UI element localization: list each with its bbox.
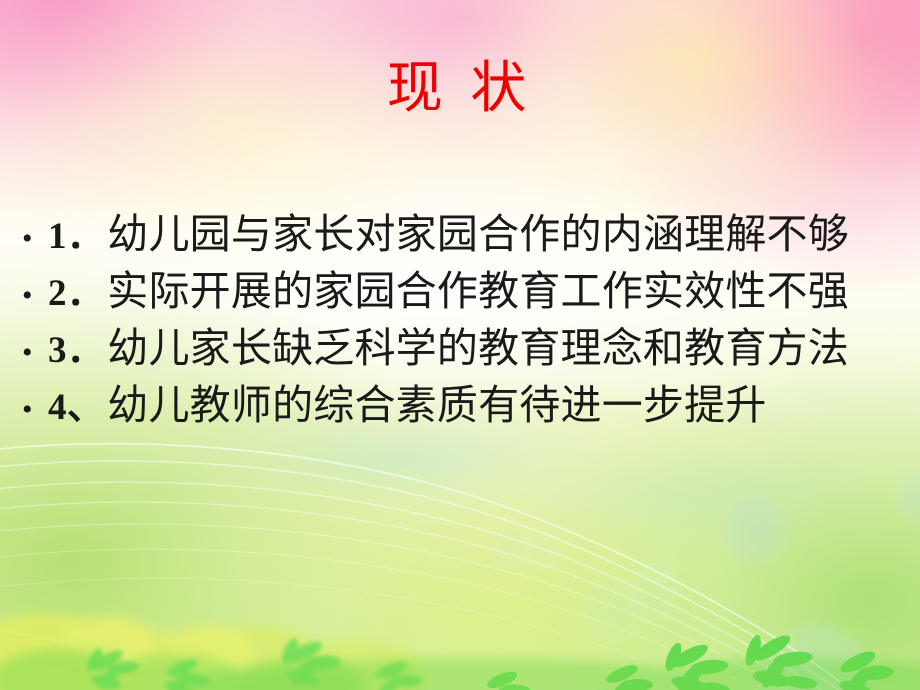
bullet-text: 幼儿家长缺乏科学的教育理念和教育方法	[107, 326, 849, 370]
bullet-marker-icon: •	[22, 388, 48, 432]
slide-title: 现 状	[0, 58, 920, 120]
list-item: • 2． 实际开展的家园合作教育工作实效性不强	[22, 269, 902, 326]
bullet-text: 幼儿教师的综合素质有待进一步提升	[107, 383, 766, 427]
list-item: • 1． 幼儿园与家长对家园合作的内涵理解不够	[22, 212, 902, 269]
bullet-text: 实际开展的家园合作教育工作实效性不强	[107, 269, 849, 313]
presentation-slide: 现 状 • 1． 幼儿园与家长对家园合作的内涵理解不够 • 2． 实际开展的家园…	[0, 0, 920, 690]
list-item: • 4、 幼儿教师的综合素质有待进一步提升	[22, 383, 902, 440]
slide-content: 现 状 • 1． 幼儿园与家长对家园合作的内涵理解不够 • 2． 实际开展的家园…	[0, 0, 920, 690]
bullet-text: 幼儿园与家长对家园合作的内涵理解不够	[107, 212, 849, 256]
bullet-number: 4、	[48, 386, 104, 430]
bullet-marker-icon: •	[22, 217, 48, 261]
bullet-number: 1．	[48, 215, 104, 259]
bullet-marker-icon: •	[22, 331, 48, 375]
bullet-marker-icon: •	[22, 274, 48, 318]
bullet-number: 3．	[48, 329, 104, 373]
list-item: • 3． 幼儿家长缺乏科学的教育理念和教育方法	[22, 326, 902, 383]
bullet-number: 2．	[48, 272, 104, 316]
bullet-list: • 1． 幼儿园与家长对家园合作的内涵理解不够 • 2． 实际开展的家园合作教育…	[22, 212, 902, 440]
